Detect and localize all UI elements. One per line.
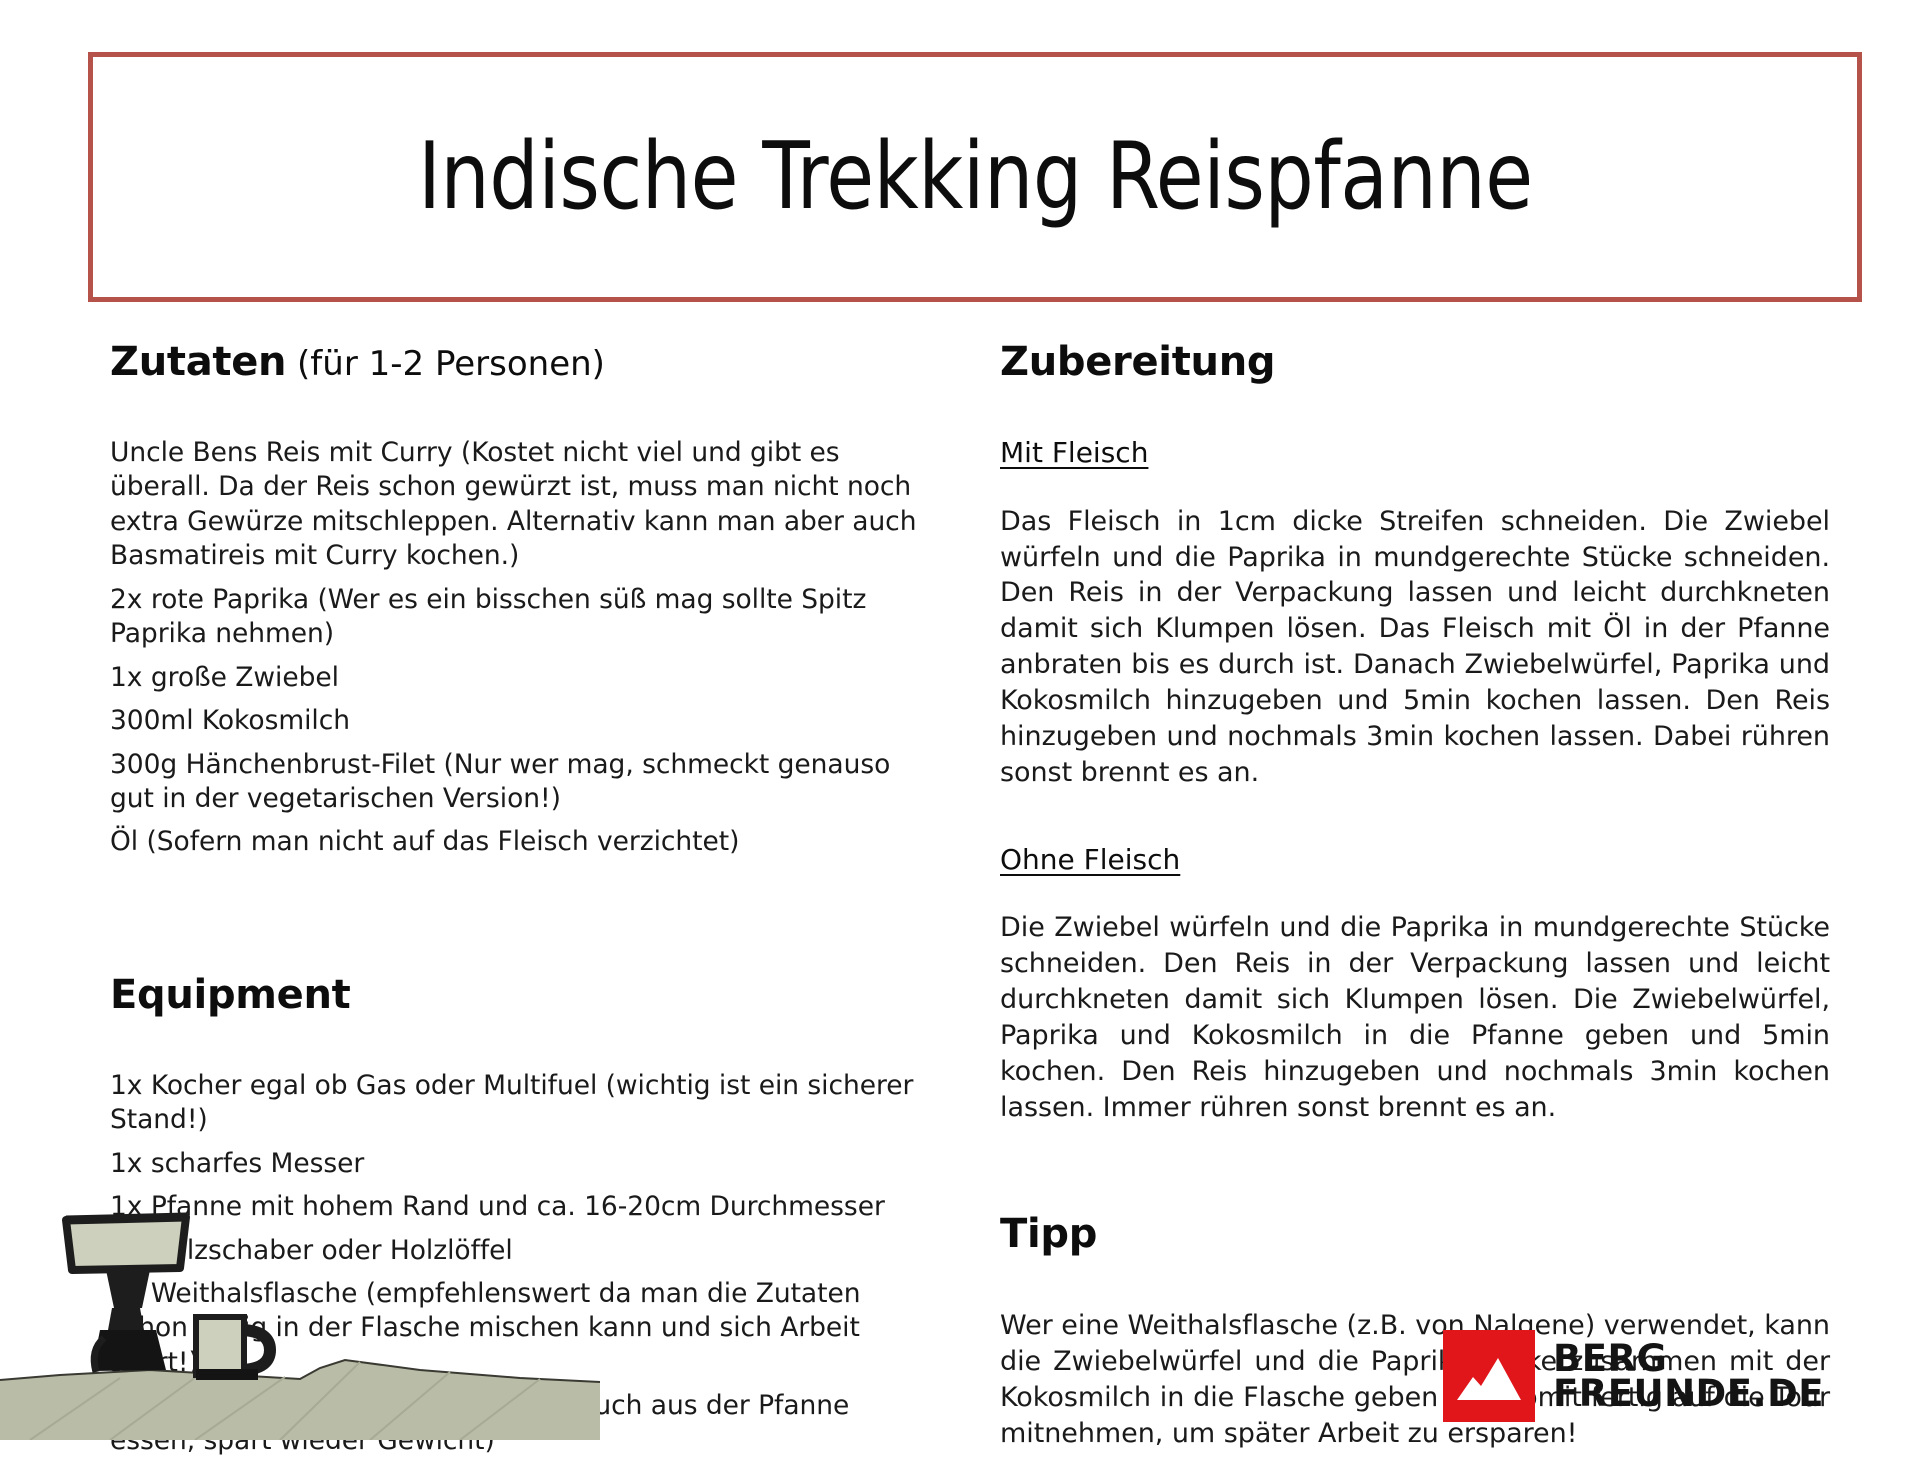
- ingredients-heading-text: Zutaten: [110, 339, 286, 385]
- list-item: 1x große Zwiebel: [110, 661, 940, 695]
- list-item: Öl (Sofern man nicht auf das Fleisch ver…: [110, 825, 940, 859]
- list-item: Uncle Bens Reis mit Curry (Kostet nicht …: [110, 436, 940, 574]
- title-banner: Indische Trekking Reispfanne: [88, 52, 1862, 302]
- preparation-with-meat-subheading: Mit Fleisch: [1000, 436, 1830, 470]
- logo-wordmark: BERG FREUNDE.DE: [1553, 1341, 1824, 1411]
- page-title: Indische Trekking Reispfanne: [418, 128, 1533, 226]
- list-item: 1x Kocher egal ob Gas oder Multifuel (wi…: [110, 1069, 940, 1138]
- equipment-heading: Equipment: [110, 973, 940, 1017]
- list-item: Besteck und Teller (man kann aber auch a…: [110, 1389, 940, 1458]
- list-item: 300ml Kokosmilch: [110, 704, 940, 738]
- preparation-heading: Zubereitung: [1000, 340, 1830, 384]
- tip-heading: Tipp: [1000, 1212, 1830, 1256]
- right-column: Zubereitung Mit Fleisch Das Fleisch in 1…: [1000, 340, 1830, 1452]
- preparation-without-meat-text: Die Zwiebel würfeln und die Paprika in m…: [1000, 910, 1830, 1125]
- mountain-icon: [1443, 1330, 1535, 1422]
- mountain-glyph: [1443, 1330, 1535, 1422]
- ingredients-heading-qualifier: (für 1-2 Personen): [286, 344, 605, 384]
- logo-line-2: FREUNDE.DE: [1553, 1376, 1824, 1411]
- list-item: 1x scharfes Messer: [110, 1147, 940, 1181]
- logo-line-1: BERG: [1553, 1341, 1824, 1376]
- list-item: 1x Holzschaber oder Holzlöffel: [110, 1234, 940, 1268]
- preparation-without-meat-subheading: Ohne Fleisch: [1000, 843, 1830, 877]
- list-item: 1x Pfanne mit hohem Rand und ca. 16-20cm…: [110, 1190, 940, 1224]
- bergfreunde-logo: BERG FREUNDE.DE: [1443, 1330, 1824, 1422]
- list-item: 1x Weithalsflasche (empfehlenswert da ma…: [110, 1277, 940, 1380]
- ingredients-heading: Zutaten (für 1-2 Personen): [110, 340, 940, 384]
- equipment-list: 1x Kocher egal ob Gas oder Multifuel (wi…: [110, 1069, 940, 1458]
- ingredients-list: Uncle Bens Reis mit Curry (Kostet nicht …: [110, 436, 940, 860]
- list-item: 2x rote Paprika (Wer es ein bisschen süß…: [110, 583, 940, 652]
- list-item: 300g Hänchenbrust-Filet (Nur wer mag, sc…: [110, 748, 940, 817]
- left-column: Zutaten (für 1-2 Personen) Uncle Bens Re…: [110, 340, 940, 1467]
- preparation-with-meat-text: Das Fleisch in 1cm dicke Streifen schnei…: [1000, 504, 1830, 791]
